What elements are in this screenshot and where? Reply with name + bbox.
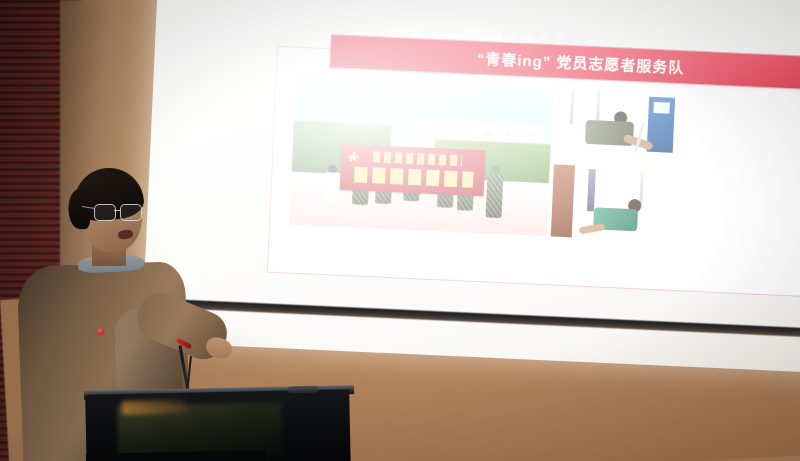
eyeglasses-icon [94, 204, 142, 220]
party-pin-badge [97, 328, 104, 335]
volunteer-photo-top [554, 89, 675, 166]
photo-banner-line-2 [354, 167, 473, 188]
photo-collage [288, 77, 795, 265]
photo-red-banner [340, 144, 486, 196]
volunteer-photo-bottom [551, 164, 672, 241]
small-photo-column [550, 89, 675, 259]
party-emblem-icon [348, 152, 359, 162]
podium-object [288, 386, 318, 394]
group-photo [289, 77, 553, 237]
presentation-photo-scene: 社区志愿服务 “青春ing” 党员志愿者服务队 [0, 0, 800, 461]
slide-banner-text: “青春ing” 党员志愿者服务队 [476, 47, 684, 77]
photo-banner-line-1 [373, 151, 463, 166]
podium-reflection-warm [122, 399, 186, 415]
